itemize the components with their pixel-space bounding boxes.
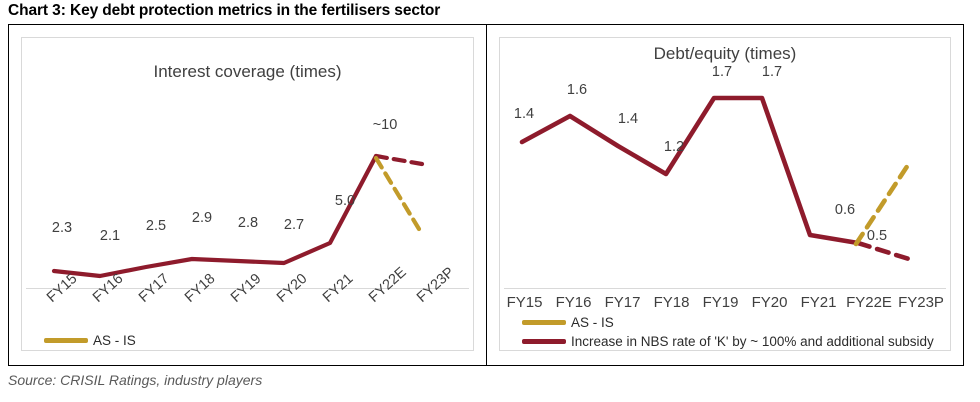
data-label-fy18: 2.9 — [192, 210, 212, 226]
charts-table: Interest coverage (times) 2.3 2.1 2.5 2.… — [8, 24, 964, 366]
line-subsidy-solid — [522, 98, 858, 243]
chart-cell-interest-coverage: Interest coverage (times) 2.3 2.1 2.5 2.… — [9, 25, 487, 365]
page-title: Chart 3: Key debt protection metrics in … — [8, 2, 440, 20]
legend-label-subsidy: Increase in NBS rate of 'K' by ~ 100% an… — [571, 334, 934, 349]
legend-item-as-is[interactable]: AS - IS — [522, 314, 934, 331]
x-tick-fy22e: FY22E — [843, 294, 895, 311]
x-axis-rule-debt-equity — [504, 288, 946, 289]
x-tick-fy15: FY15 — [500, 294, 549, 311]
x-tick-fy16: FY16 — [549, 294, 598, 311]
data-label-fy21: 5.0 — [335, 193, 355, 209]
source-note: Source: CRISIL Ratings, industry players — [8, 372, 262, 388]
data-label-fy19: 2.8 — [238, 215, 258, 231]
legend-label-as-is: AS - IS — [93, 333, 136, 348]
data-label-fy16: 1.6 — [567, 82, 587, 98]
data-label-fy16: 2.1 — [100, 228, 120, 244]
legend-label-as-is: AS - IS — [571, 315, 614, 330]
x-tick-fy23p: FY23P — [895, 294, 947, 311]
legend-swatch-as-is — [44, 338, 88, 343]
legend-swatch-as-is — [522, 320, 566, 325]
x-tick-fy18: FY18 — [647, 294, 696, 311]
data-label-fy15: 1.4 — [514, 106, 534, 122]
x-tick-fy19: FY19 — [696, 294, 745, 311]
data-label-fy20: 2.7 — [284, 217, 304, 233]
x-axis-labels-debt-equity: FY15 FY16 FY17 FY18 FY19 FY20 FY21 FY22E… — [500, 294, 950, 311]
chart-figure: Chart 3: Key debt protection metrics in … — [0, 0, 980, 402]
legend-debt-equity: AS - IS Increase in NBS rate of 'K' by ~… — [522, 314, 934, 351]
data-label-fy20: 1.7 — [762, 64, 782, 80]
line-subsidy-dashed — [376, 156, 422, 164]
chart-cell-debt-equity: Debt/equity (times) 1.4 1.6 1.4 1.2 1.7 — [487, 25, 963, 365]
data-label-fy18: 1.2 — [664, 139, 684, 155]
legend-interest-coverage: AS - IS Increase in NBS rate of 'K' by ~… — [44, 332, 456, 351]
data-label-fy17: 2.5 — [146, 218, 166, 234]
series-lines-interest-coverage — [22, 38, 474, 288]
data-label-fy22e: ~10 — [373, 117, 398, 133]
legend-swatch-subsidy — [522, 339, 566, 344]
x-tick-fy20: FY20 — [745, 294, 794, 311]
data-label-fy21: 0.6 — [835, 202, 855, 218]
data-label-fy17: 1.4 — [618, 111, 638, 127]
chart-panel-interest-coverage: Interest coverage (times) 2.3 2.1 2.5 2.… — [21, 37, 474, 351]
data-label-fy15: 2.3 — [52, 220, 72, 236]
chart-panel-debt-equity: Debt/equity (times) 1.4 1.6 1.4 1.2 1.7 — [499, 37, 951, 351]
plot-area-interest-coverage: 2.3 2.1 2.5 2.9 2.8 2.7 5.0 ~10 — [22, 38, 473, 350]
x-tick-fy21: FY21 — [794, 294, 843, 311]
data-label-fy22e: 0.5 — [867, 228, 887, 244]
legend-item-subsidy[interactable]: Increase in NBS rate of 'K' by ~ 100% an… — [522, 333, 934, 350]
line-as-is-dashed — [376, 158, 422, 234]
data-label-fy19: 1.7 — [712, 64, 732, 80]
line-subsidy-dashed — [858, 243, 912, 260]
line-subsidy-solid — [54, 156, 376, 276]
legend-item-as-is[interactable]: AS - IS — [44, 332, 456, 349]
x-tick-fy17: FY17 — [598, 294, 647, 311]
